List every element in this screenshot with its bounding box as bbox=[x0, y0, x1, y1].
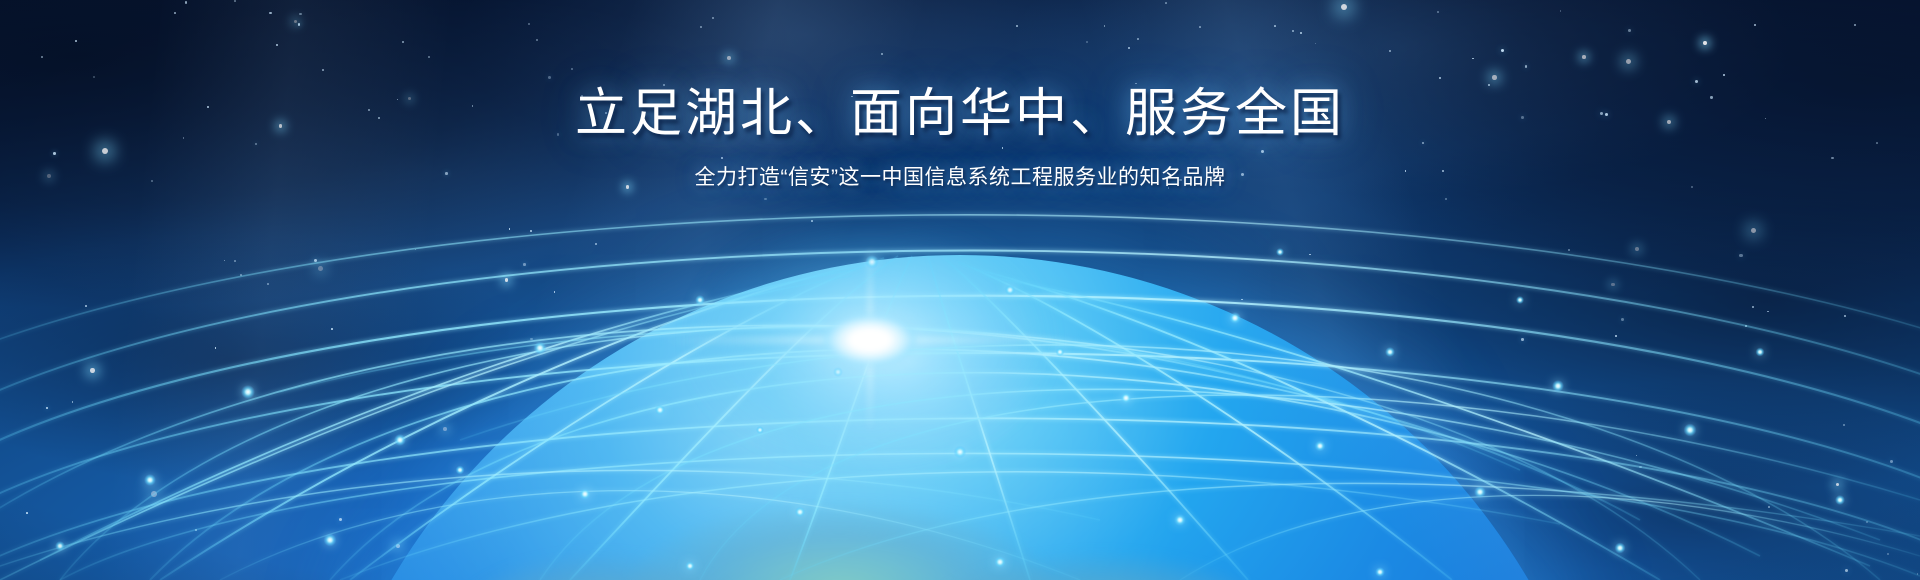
banner-headline: 立足湖北、面向华中、服务全国 bbox=[0, 84, 1920, 144]
banner-copy: 立足湖北、面向华中、服务全国 全力打造“信安”这一中国信息系统工程服务业的知名品… bbox=[0, 84, 1920, 193]
network-flare bbox=[870, 340, 872, 342]
banner-subheadline: 全力打造“信安”这一中国信息系统工程服务业的知名品牌 bbox=[0, 163, 1920, 192]
hero-banner: 立足湖北、面向华中、服务全国 全力打造“信安”这一中国信息系统工程服务业的知名品… bbox=[0, 0, 1920, 580]
